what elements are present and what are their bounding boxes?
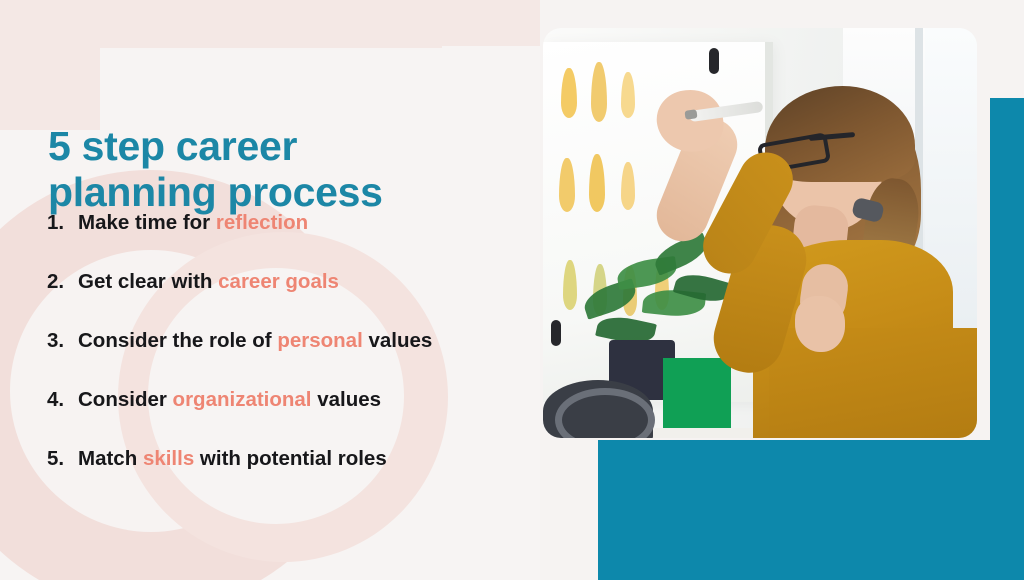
list-item-number: 2. (47, 269, 78, 295)
list-item: 1.Make time for reflection (47, 210, 547, 269)
teal-footer-block: betterworks (598, 440, 1024, 580)
photo-person-fist (795, 296, 845, 352)
list-item-plain-text: Get clear with (78, 270, 218, 293)
list-item-accent-word: career goals (218, 270, 339, 293)
photo-green-board (663, 358, 731, 436)
list-item-accent-word: organizational (173, 388, 312, 411)
list-item-plain-text: Make time for (78, 211, 216, 234)
photo-marker-top (709, 48, 719, 74)
list-item-plain-text: Consider the role of (78, 329, 277, 352)
list-item-number: 3. (47, 328, 78, 354)
list-item-text: Get clear with career goals (78, 269, 339, 295)
photo-marker-pen-tip (684, 109, 697, 120)
list-item-plain-text: values (312, 388, 382, 411)
graphic-canvas: 5 step career planning process 1.Make ti… (0, 0, 1024, 580)
hero-photo (543, 28, 977, 438)
page-title: 5 step career planning process (48, 123, 518, 215)
list-item: 5.Match skills with potential roles (47, 446, 547, 505)
list-item-number: 5. (47, 446, 78, 472)
photo-marker-bottom (551, 320, 561, 346)
list-item-plain-text: Consider (78, 388, 173, 411)
steps-list: 1.Make time for reflection2.Get clear wi… (47, 210, 547, 505)
list-item: 4.Consider organizational values (47, 387, 547, 446)
list-item-text: Consider the role of personal values (78, 328, 432, 354)
list-item-plain-text: with potential roles (194, 447, 387, 470)
list-item-text: Consider organizational values (78, 387, 381, 413)
list-item-text: Make time for reflection (78, 210, 308, 236)
headline-line-1: 5 step career (48, 123, 518, 169)
text-column: 5 step career planning process 1.Make ti… (0, 0, 540, 580)
list-item-text: Match skills with potential roles (78, 446, 387, 472)
list-item: 3.Consider the role of personal values (47, 328, 547, 387)
list-item-accent-word: skills (143, 447, 194, 470)
list-item-number: 1. (47, 210, 78, 236)
list-item: 2.Get clear with career goals (47, 269, 547, 328)
list-item-plain-text: values (363, 329, 433, 352)
list-item-number: 4. (47, 387, 78, 413)
list-item-plain-text: Match (78, 447, 143, 470)
list-item-accent-word: reflection (216, 211, 308, 234)
list-item-accent-word: personal (277, 329, 362, 352)
photo-person-sweater-body (769, 328, 977, 438)
headline-line-2: planning process (48, 169, 518, 215)
